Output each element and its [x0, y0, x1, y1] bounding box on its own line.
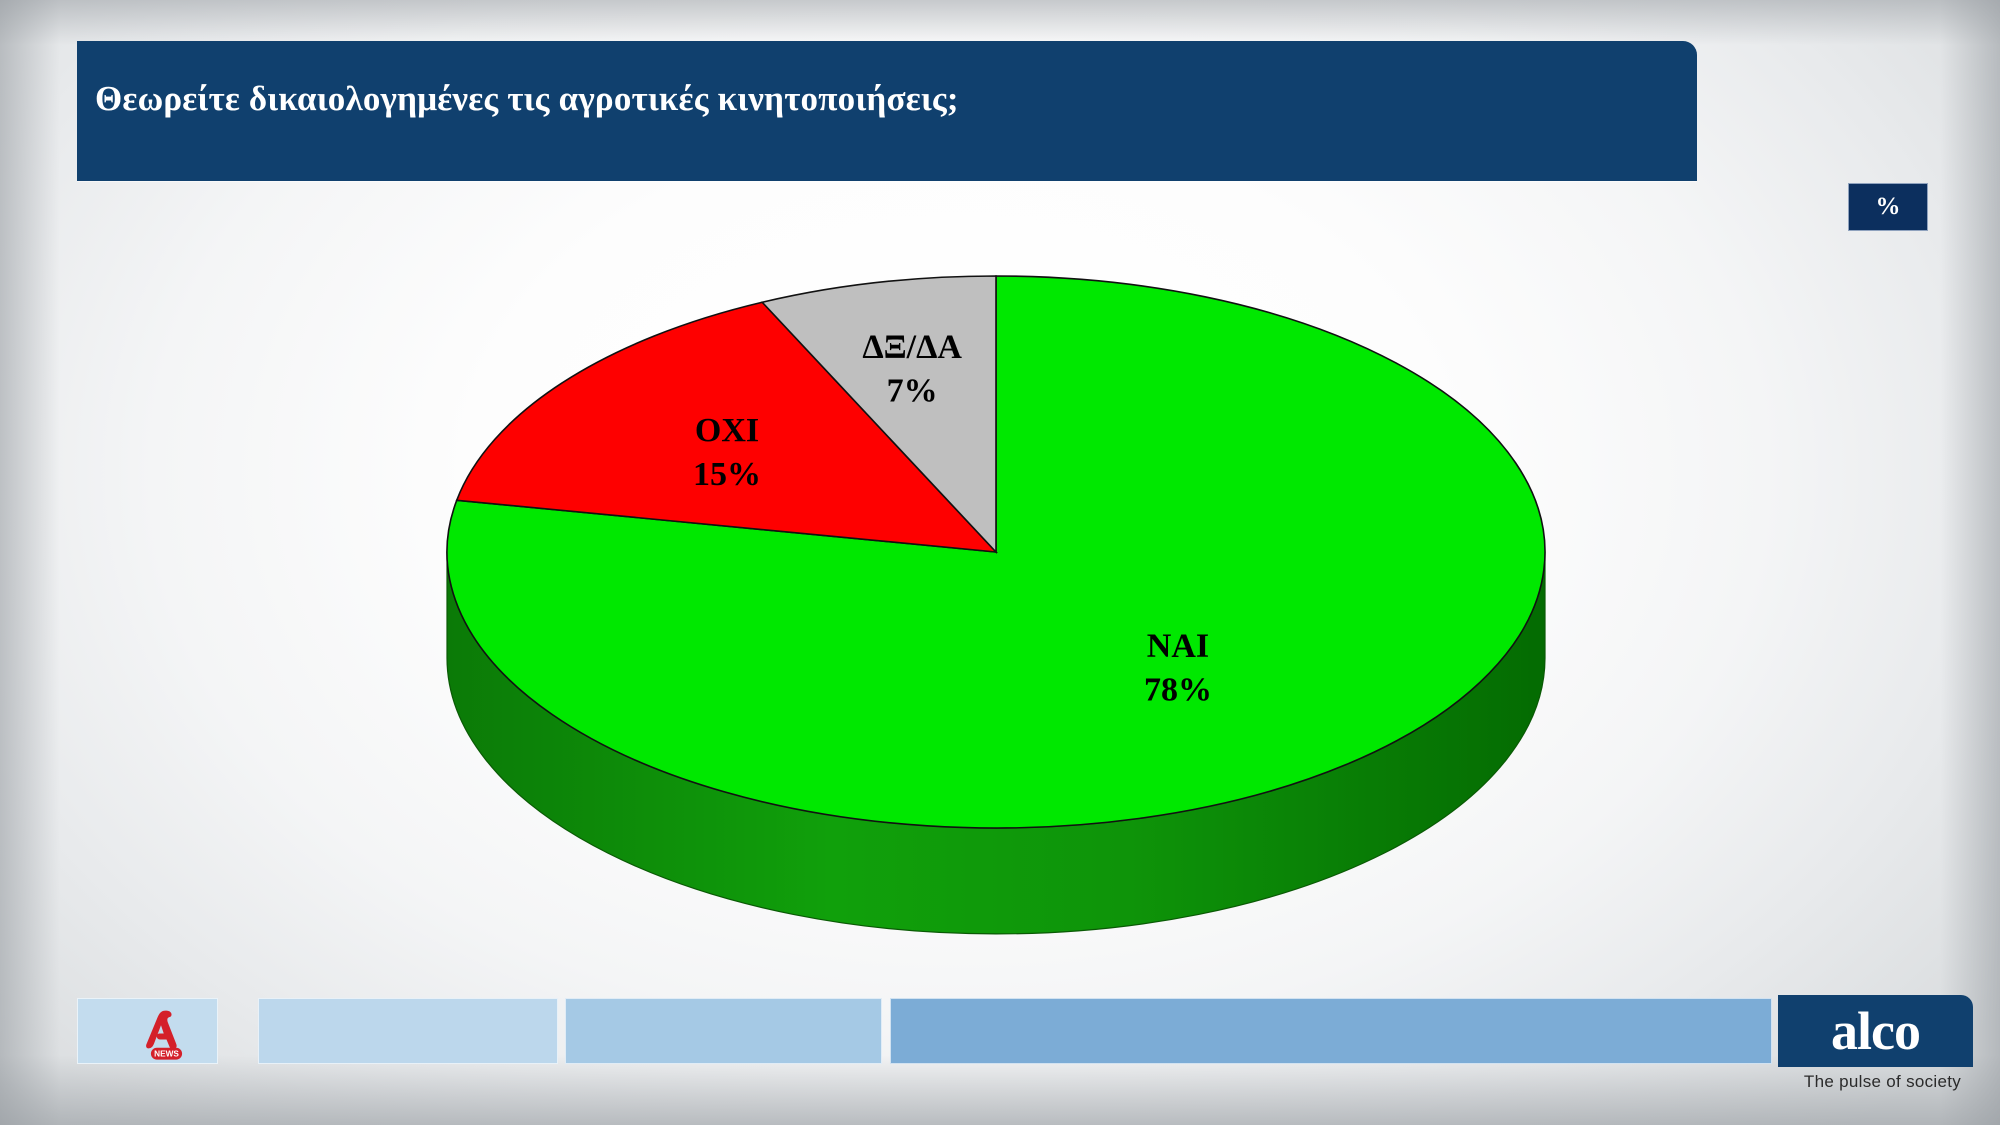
pie-chart: ΔΞ/ΔΑ 7% ΟΧΙ 15% ΝΑΙ 78%: [0, 180, 2000, 980]
alco-logo-text: alco: [1831, 1004, 1920, 1058]
alpha-news-logo-icon: NEWS: [139, 1006, 194, 1061]
pie-chart-svg: ΔΞ/ΔΑ 7% ΟΧΙ 15% ΝΑΙ 78%: [0, 180, 2000, 980]
footer-segment-4: [890, 998, 1772, 1064]
slice-label-nai-value: 78%: [1144, 672, 1212, 709]
slice-label-oxi-name: ΟΧΙ: [695, 412, 759, 449]
page-title: Θεωρείτε δικαιολογημένες τις αγροτικές κ…: [95, 79, 959, 119]
title-bar: Θεωρείτε δικαιολογημένες τις αγροτικές κ…: [77, 41, 1697, 181]
alpha-news-logo-text: NEWS: [154, 1049, 179, 1058]
footer-bar: NEWS alco The pulse of society: [0, 980, 2000, 1125]
pie-top-face: [447, 276, 1545, 828]
slice-label-oxi-value: 15%: [693, 456, 761, 493]
footer-segment-2: [258, 998, 558, 1064]
slice-label-nai-name: ΝΑΙ: [1147, 628, 1209, 665]
slide-canvas: Θεωρείτε δικαιολογημένες τις αγροτικές κ…: [0, 0, 2000, 1125]
percent-unit-badge: %: [1848, 183, 1928, 231]
footer-segment-3: [565, 998, 882, 1064]
alco-logo: alco: [1778, 995, 1973, 1067]
slice-label-dk-value: 7%: [887, 372, 938, 409]
alco-tagline: The pulse of society: [1790, 1072, 1975, 1092]
slice-label-dk-name: ΔΞ/ΔΑ: [862, 328, 962, 365]
